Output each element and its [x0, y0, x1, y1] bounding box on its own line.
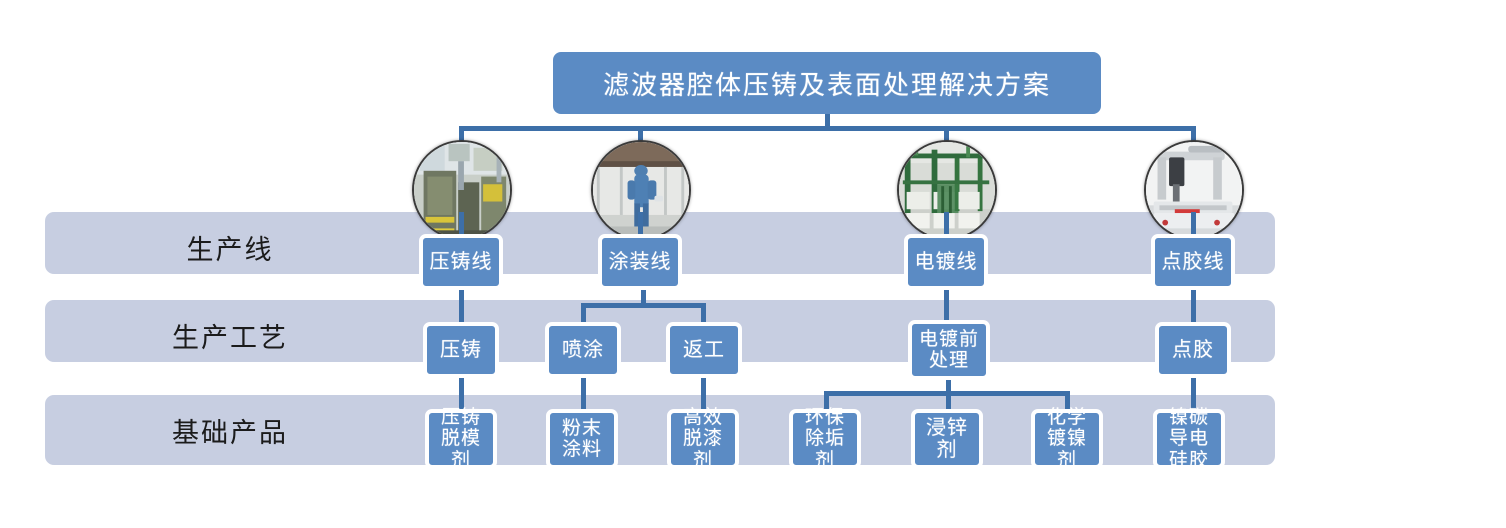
connector-top-bus: [459, 126, 1196, 131]
node-product-high-efficiency-paint-stripper[interactable]: 高效脱漆剂: [667, 409, 739, 469]
node-product-nickel-carbon-conductive-silicone[interactable]: 镍碳导电硅胶: [1153, 409, 1225, 469]
connector-photo-to-line-1: [459, 212, 464, 234]
node-label: 浸锌剂: [918, 417, 976, 462]
node-label: 压铸线: [430, 251, 493, 273]
connector-die-casting-line-to-process: [459, 290, 464, 322]
node-process-rework[interactable]: 返工: [666, 322, 742, 378]
node-process-dispensing[interactable]: 点胶: [1155, 322, 1231, 378]
connector-electroplating-line-to-process: [944, 290, 949, 322]
row-label-production-line: 生产线: [60, 228, 400, 267]
row-label-production-process: 生产工艺: [60, 316, 400, 355]
row-label-base-product: 基础产品: [60, 411, 400, 450]
connector-coating-stem: [641, 290, 646, 304]
node-label: 镍碳导电硅胶: [1160, 407, 1218, 471]
diagram-title-box: 滤波器腔体压铸及表面处理解决方案: [553, 52, 1101, 114]
diagram-title: 滤波器腔体压铸及表面处理解决方案: [603, 65, 1051, 102]
node-label: 电镀前处理: [915, 329, 983, 372]
node-label: 点胶: [1172, 339, 1214, 361]
connector-photo-to-line-4: [1191, 212, 1196, 234]
node-label: 喷涂: [562, 339, 604, 361]
node-product-electroless-nickel-plating-agent[interactable]: 化学镀镍剂: [1031, 409, 1103, 469]
node-product-die-casting-release-agent[interactable]: 压铸脱模剂: [425, 409, 497, 469]
diagram-canvas: 生产线 生产工艺 基础产品 滤波器腔体压铸及表面处理解决方案: [0, 0, 1506, 528]
node-product-zincate[interactable]: 浸锌剂: [911, 409, 983, 469]
node-process-die-casting[interactable]: 压铸: [423, 322, 499, 378]
node-label: 电镀线: [915, 251, 978, 273]
node-label: 点胶线: [1162, 251, 1225, 273]
node-process-pre-plating-treatment[interactable]: 电镀前处理: [908, 320, 990, 380]
node-label: 压铸脱模剂: [432, 407, 490, 471]
connector-coating-bus: [581, 303, 706, 308]
connector-coating-drop-spray: [581, 303, 586, 323]
connector-photo-to-line-3: [944, 212, 949, 234]
node-production-line-dispensing[interactable]: 点胶线: [1151, 234, 1235, 290]
node-label: 压铸: [440, 339, 482, 361]
node-label: 化学镀镍剂: [1038, 407, 1096, 471]
node-label: 返工: [683, 339, 725, 361]
node-production-line-die-casting[interactable]: 压铸线: [419, 234, 503, 290]
connector-coating-drop-rework: [701, 303, 706, 323]
node-label: 高效脱漆剂: [674, 407, 732, 471]
node-production-line-coating[interactable]: 涂装线: [598, 234, 682, 290]
node-product-eco-descaler[interactable]: 环保除垢剂: [789, 409, 861, 469]
node-process-spraying[interactable]: 喷涂: [545, 322, 621, 378]
node-production-line-electroplating[interactable]: 电镀线: [904, 234, 988, 290]
connector-dispensing-line-to-process: [1191, 290, 1196, 322]
node-label: 涂装线: [609, 251, 672, 273]
node-label: 粉末涂料: [553, 418, 611, 461]
node-product-powder-coating[interactable]: 粉末涂料: [546, 409, 618, 469]
connector-photo-to-line-2: [638, 212, 643, 234]
node-label: 环保除垢剂: [796, 407, 854, 471]
